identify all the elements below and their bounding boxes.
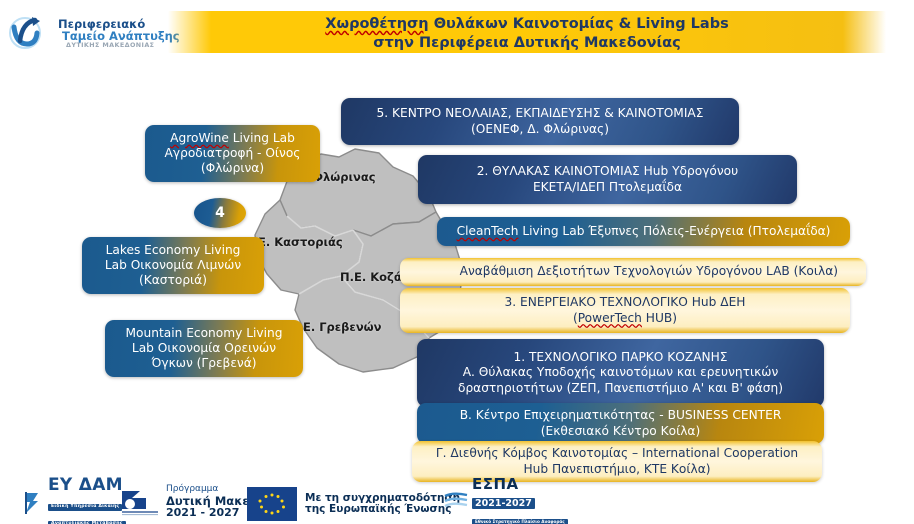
fund-logo-mark [6, 11, 50, 55]
center-youth-education-innovation-line-1: 5. ΚΕΝΤΡΟ ΝΕΟΛΑΙΑΣ, ΕΚΠΑΙΔΕΥΣΗΣ & ΚΑΙΝΟΤ… [377, 106, 704, 121]
center-youth-education-innovation-line-2: (ΟΕΝΕΦ, Δ. Φλώρινας) [471, 122, 609, 137]
technology-park-kozani-line-1: 1. ΤΕΧΝΟΛΟΓΙΚΟ ΠΑΡΚΟ ΚΟΖΑΝΗΣ [513, 350, 727, 365]
lakes-economy-living-lab-line-3: (Καστοριά) [139, 273, 207, 288]
eydam-sub-1: Ειδική Υπηρεσία Δίκαιης [48, 504, 122, 511]
page-title: Χωροθέτηση Θυλάκων Καινοτομίας & Living … [168, 10, 886, 58]
title-line-2: στην Περιφέρεια Δυτικής Μακεδονίας [373, 34, 681, 53]
technology-park-kozani-box[interactable]: 1. ΤΕΧΝΟΛΟΓΙΚΟ ΠΑΡΚΟ ΚΟΖΑΝΗΣΑ. Θύλακας Υ… [417, 339, 824, 407]
title-line-1-rest: Θυλάκων Καινοτομίας & Living Labs [429, 16, 729, 32]
international-cooperation-hub-line-2: Hub Πανεπιστήμιο, ΚΤΕ Κοίλα) [523, 462, 710, 477]
slide-canvas: Περιφερειακό Ταμείο Ανάπτυξης ΔΥΤΙΚΗΣ ΜΑ… [0, 0, 914, 524]
espa-logo: ΕΣΠΑ 2021-2027 Εθνικό Στρατηγικό Πλαίσιο… [443, 482, 568, 522]
technology-park-kozani-line-3: δραστηριοτήτων (ΖΕΠ, Πανεπιστήμιο Α' και… [458, 381, 783, 396]
logo-line-2: Ταμείο Ανάπτυξης [62, 30, 180, 42]
mountain-economy-living-lab-line-3: Όγκων (Γρεβενά) [151, 356, 256, 371]
marker-badge-label: 4 [215, 205, 225, 221]
logo-line-1: Περιφερειακό [58, 18, 180, 30]
eydam-title: ΕΥ ΔΑΜ [48, 476, 126, 494]
agrowine-living-lab-box[interactable]: AgroWine Living LabΑγροδιατροφή - Οίνος(… [145, 125, 320, 182]
agrowine-living-lab-line-1: AgroWine Living Lab [170, 131, 295, 146]
regional-development-fund-logo: Περιφερειακό Ταμείο Ανάπτυξης ΔΥΤΙΚΗΣ ΜΑ… [6, 8, 164, 58]
business-center-line-1: Β. Κέντρο Επιχειρηματικότητας - BUSINESS… [460, 408, 782, 423]
hydrogen-innovation-hub-line-1: 2. ΘΥΛΑΚΑΣ ΚΑΙΝΟΤΟΜΙΑΣ Hub Υδρογόνου [477, 164, 738, 179]
eydam-logo: ΕΥ ΔΑΜ Ειδική Υπηρεσία Δίκαιης Αναπτυξια… [24, 482, 126, 522]
agrowine-living-lab-line-2: Αγροδιατροφή - Οίνος [165, 146, 301, 161]
lakes-economy-living-lab-line-1: Lakes Economy Living [106, 243, 241, 258]
logo-line-3: ΔΥΤΙΚΗΣ ΜΑΚΕΔΟΝΙΑΣ [66, 42, 180, 49]
hydrogen-skills-lab-box[interactable]: Αναβάθμιση Δεξιοτήτων Τεχνολογιών Υδρογό… [400, 258, 866, 286]
hydrogen-skills-lab-line-1: Αναβάθμιση Δεξιοτήτων Τεχνολογιών Υδρογό… [460, 264, 856, 279]
eu-label-2: της Ευρωπαϊκής Ένωσης [305, 504, 460, 515]
energy-technology-hub-dei-box[interactable]: 3. ΕΝΕΡΓΕΙΑΚΟ ΤΕΧΝΟΛΟΓΙΚΟ Hub ΔΕΗ(PowerT… [400, 288, 850, 333]
eu-flag-icon [247, 487, 297, 521]
cleantech-living-lab-line-1: CleanTech Living Lab Έξυπνες Πόλεις-Ενέρ… [457, 224, 831, 239]
espa-years: 2021-2027 [472, 498, 535, 509]
footer-logos: ΕΥ ΔΑΜ Ειδική Υπηρεσία Δίκαιης Αναπτυξια… [0, 480, 914, 524]
energy-technology-hub-dei-line-1: 3. ΕΝΕΡΓΕΙΑΚΟ ΤΕΧΝΟΛΟΓΙΚΟ Hub ΔΕΗ [505, 295, 746, 310]
mountain-economy-living-lab-box[interactable]: Mountain Economy LivingLab Οικονομία Ορε… [105, 320, 303, 377]
cleantech-living-lab-underlined-term: CleanTech [457, 224, 519, 238]
energy-technology-hub-dei-line-2: (PowerTech HUB) [573, 311, 677, 326]
agrowine-living-lab-underlined-term: AgroWine [170, 131, 229, 145]
technology-park-kozani-line-2: Α. Θύλακας Υποδοχής καινοτόμων και ερευν… [463, 365, 779, 380]
title-underlined-word: Χωροθέτηση [325, 16, 428, 32]
eu-cofunding-logo: Με τη συγχρηματοδότηση της Ευρωπαϊκής Έν… [247, 484, 460, 524]
espa-sub: Εθνικό Στρατηγικό Πλαίσιο Αναφοράς [472, 519, 568, 524]
international-cooperation-hub-line-1: Γ. Διεθνής Κόμβος Καινοτομίας – Internat… [436, 446, 798, 461]
mountain-economy-living-lab-line-2: Lab Οικονομία Ορεινών [132, 341, 276, 356]
marker-badge-4: 4 [194, 198, 246, 228]
espa-wave-icon [443, 490, 469, 514]
center-youth-education-innovation-box[interactable]: 5. ΚΕΝΤΡΟ ΝΕΟΛΑΙΑΣ, ΕΚΠΑΙΔΕΥΣΗΣ & ΚΑΙΝΟΤ… [341, 98, 739, 145]
cleantech-living-lab-box[interactable]: CleanTech Living Lab Έξυπνες Πόλεις-Ενέρ… [437, 217, 850, 246]
lakes-economy-living-lab-box[interactable]: Lakes Economy LivingLab Οικονομία Λιμνών… [82, 237, 264, 294]
energy-technology-hub-dei-underlined-term: PowerTech [578, 311, 642, 325]
eydam-mark-icon [24, 489, 46, 515]
lakes-economy-living-lab-line-2: Lab Οικονομία Λιμνών [105, 258, 241, 273]
espa-title: ΕΣΠΑ [472, 477, 568, 493]
business-center-box[interactable]: Β. Κέντρο Επιχειρηματικότητας - BUSINESS… [417, 403, 824, 444]
hydrogen-innovation-hub-box[interactable]: 2. ΘΥΛΑΚΑΣ ΚΑΙΝΟΤΟΜΙΑΣ Hub ΥδρογόνουΕΚΕΤ… [418, 155, 797, 204]
program-mark-icon [120, 487, 160, 517]
hydrogen-innovation-hub-line-2: ΕΚΕΤΑ/ΙΔΕΠ Πτολεμαΐδα [533, 180, 682, 195]
business-center-line-2: (Εκθεσιακό Κέντρο Κοίλα) [541, 424, 700, 439]
mountain-economy-living-lab-line-1: Mountain Economy Living [126, 326, 283, 341]
agrowine-living-lab-line-3: (Φλώρινα) [201, 161, 264, 176]
